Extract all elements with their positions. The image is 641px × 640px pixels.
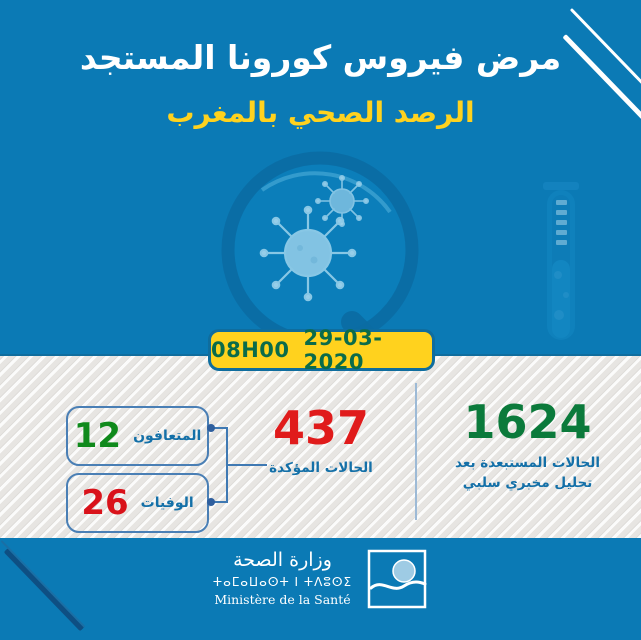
ministry-emblem-icon	[366, 548, 428, 610]
poster-subtitle: الرصد الصحي بالمغرب	[0, 96, 641, 129]
stat-confirmed: 437 الحالات المؤكدة	[236, 404, 406, 476]
excluded-label-line2: تحليل مخبري سلبي	[425, 474, 630, 494]
excluded-label-line1: الحالات المستبعدة بعد	[425, 454, 630, 474]
deaths-value: 26	[81, 486, 128, 520]
virus-icon	[316, 176, 368, 226]
recovered-value: 12	[74, 419, 121, 453]
badge-time: 08H00	[211, 338, 290, 362]
excluded-label: الحالات المستبعدة بعد تحليل مخبري سلبي	[425, 454, 630, 493]
vertical-divider	[415, 383, 417, 520]
poster-title: مرض فيروس كورونا المستجد	[0, 38, 641, 77]
excluded-value: 1624	[425, 398, 630, 446]
deaths-label: الوفيات	[141, 495, 194, 511]
ministry-logo-text: وزارة الصحة ⵜⴰⵎⴰⵡⴰⵙⵜ ⵏ ⵜⴷⵓⵙⵉ Ministère d…	[213, 549, 352, 610]
stat-box-deaths: الوفيات 26	[66, 473, 209, 533]
stat-excluded: 1624 الحالات المستبعدة بعد تحليل مخبري س…	[425, 398, 630, 493]
ministry-name-french: Ministère de la Santé	[213, 591, 352, 610]
date-badge: 08H00 29-03-2020	[208, 329, 435, 371]
confirmed-label: الحالات المؤكدة	[236, 460, 406, 476]
ministry-name-arabic: وزارة الصحة	[213, 549, 352, 573]
test-tube-icon	[543, 182, 579, 340]
badge-date: 29-03-2020	[304, 326, 432, 374]
recovered-label: المتعافون	[133, 428, 201, 444]
illustration-group	[0, 150, 641, 355]
stat-box-recovered: المتعافون 12	[66, 406, 209, 466]
ministry-name-tifinagh: ⵜⴰⵎⴰⵡⴰⵙⵜ ⵏ ⵜⴷⵓⵙⵉ	[213, 573, 352, 591]
virus-icon	[261, 207, 355, 300]
ministry-logo: وزارة الصحة ⵜⴰⵎⴰⵡⴰⵙⵜ ⵏ ⵜⴷⵓⵙⵉ Ministère d…	[0, 548, 641, 610]
poster-root: مرض فيروس كورونا المستجد الرصد الصحي بال…	[0, 0, 641, 640]
confirmed-value: 437	[236, 404, 406, 452]
